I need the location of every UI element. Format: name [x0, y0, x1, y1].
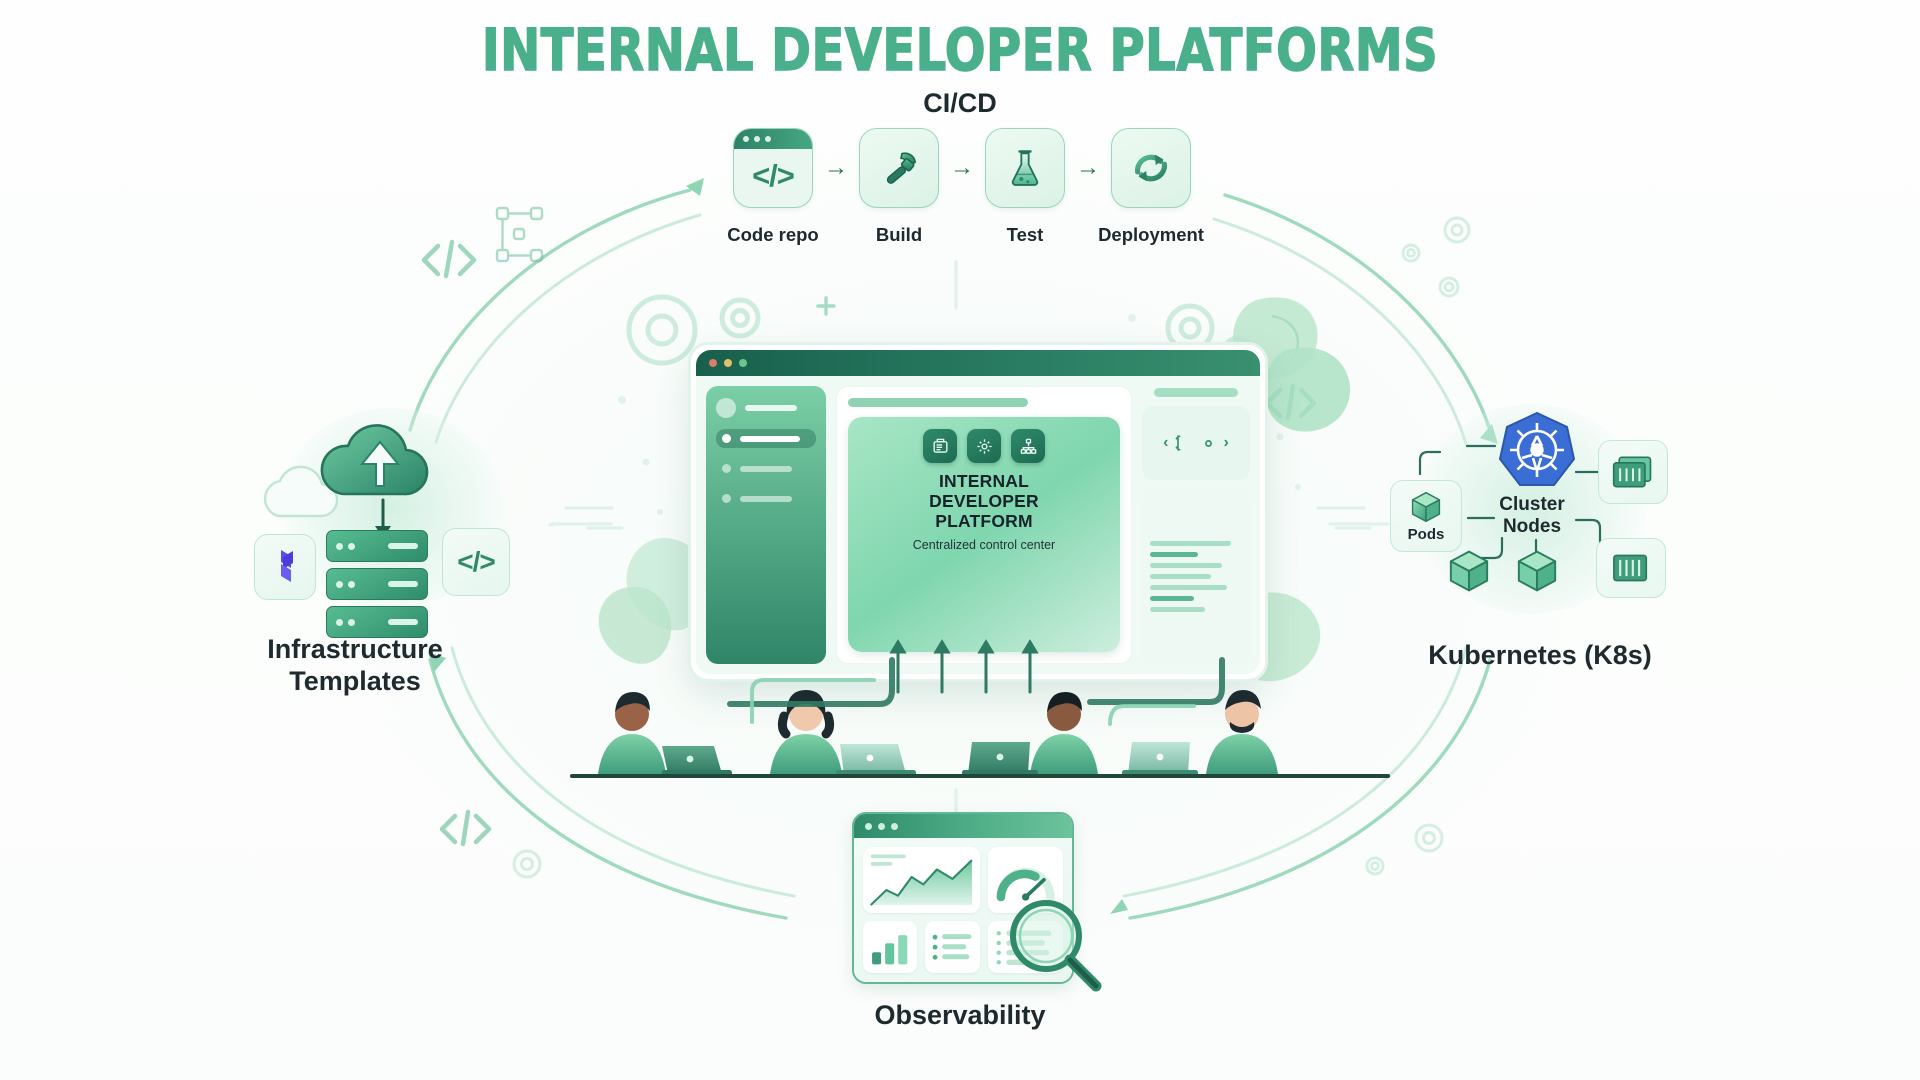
code-brackets-glyph: </> [752, 158, 794, 194]
sidebar-item-icon [722, 494, 731, 503]
page-title: INTERNAL DEVELOPER PLATFORMS [77, 16, 1843, 84]
pipeline-arrow-3: → [1071, 128, 1105, 208]
idp-title-line1: INTERNAL [939, 471, 1029, 491]
pod-cube-icon [1514, 548, 1560, 594]
browser-body: INTERNAL DEVELOPER PLATFORM Centralized … [696, 376, 1260, 674]
idp-title-line3: PLATFORM [935, 511, 1033, 531]
terraform-logo-icon [254, 534, 316, 600]
sidebar-item-4[interactable] [716, 489, 816, 508]
list-widget [925, 921, 979, 973]
browser-titlebar [696, 350, 1260, 376]
observability-dashboard[interactable] [852, 812, 1074, 984]
bottom-widget-row [863, 921, 980, 973]
pipeline-step-label: Deployment [1098, 224, 1204, 246]
pipeline-step-build[interactable]: Build [853, 128, 945, 246]
sidebar-item-icon [722, 434, 731, 443]
sidebar-item-2[interactable] [716, 429, 816, 448]
browser-inner: INTERNAL DEVELOPER PLATFORM Centralized … [696, 350, 1260, 674]
observability-titlebar [854, 814, 1072, 838]
code-line [1150, 541, 1231, 546]
refresh-cycle-icon [1111, 128, 1191, 208]
kubernetes-helm-icon [1496, 410, 1578, 492]
idp-title: INTERNAL DEVELOPER PLATFORM [929, 472, 1039, 532]
sidebar-item-icon [722, 464, 731, 473]
code-line [1150, 563, 1222, 568]
observability-widgets [854, 838, 1072, 982]
section-label-cicd: CI/CD [810, 88, 1110, 120]
code-brackets-icon: </> [442, 528, 510, 596]
app-sidebar [706, 386, 826, 664]
code-line [1150, 607, 1205, 612]
area-chart-widget [863, 847, 980, 913]
code-window-icon: </> [733, 128, 813, 208]
pipeline-arrow-1: → [819, 128, 853, 208]
package-container-icon [923, 429, 957, 463]
flask-icon [985, 128, 1065, 208]
pipeline-step-test[interactable]: Test [979, 128, 1071, 246]
kubernetes-group: Pods Cluster Nodes [1390, 398, 1680, 618]
hammer-icon [859, 128, 939, 208]
cluster-line1: Cluster [1499, 494, 1564, 515]
code-line [1150, 596, 1194, 601]
container-stack-card-bottom[interactable] [1596, 538, 1666, 598]
infrastructure-templates-group: </> [252, 398, 532, 618]
container-stack-icon [1608, 550, 1654, 586]
pipeline-step-label: Code repo [727, 224, 818, 246]
pipeline-step-code-repo[interactable]: </> Code repo [727, 128, 819, 246]
code-gear-icon[interactable]: ‹ › [1142, 406, 1250, 480]
hub-network-icon [967, 429, 1001, 463]
sitemap-icon [1011, 429, 1045, 463]
developers-illustration [570, 662, 1390, 782]
code-line [1150, 574, 1211, 579]
pod-cube-icon [1446, 548, 1492, 594]
right-panel-heading-placeholder [1154, 388, 1238, 397]
avatar [716, 398, 736, 418]
idp-hero-card: INTERNAL DEVELOPER PLATFORM Centralized … [848, 417, 1120, 652]
developer-3 [962, 692, 1098, 776]
idp-browser-window[interactable]: INTERNAL DEVELOPER PLATFORM Centralized … [688, 342, 1268, 682]
right-panel: ‹ › [1142, 386, 1250, 664]
main-content-pane: INTERNAL DEVELOPER PLATFORM Centralized … [836, 386, 1132, 664]
pipeline-step-label: Test [1007, 224, 1044, 246]
idp-title-line2: DEVELOPER [929, 491, 1039, 511]
code-line [1150, 552, 1198, 557]
sidebar-profile-label [745, 405, 797, 411]
sidebar-profile[interactable] [716, 398, 816, 418]
gauge-widget [988, 847, 1063, 913]
pipeline-step-deployment[interactable]: Deployment [1105, 128, 1197, 246]
pod-cube-icon [1409, 490, 1443, 524]
log-list-widget [988, 921, 1063, 973]
section-label-infrastructure: Infrastructure Templates [190, 634, 520, 698]
code-lines-list [1142, 489, 1250, 664]
window-close-dot[interactable] [709, 359, 717, 367]
window-titlebar [734, 129, 812, 149]
cloud-upload-icon [314, 412, 446, 502]
infra-label-line1: Infrastructure [267, 634, 443, 664]
cluster-nodes-label: Cluster Nodes [1476, 494, 1588, 538]
desk-line [570, 774, 1390, 778]
window-minimize-dot[interactable] [724, 359, 732, 367]
section-label-kubernetes: Kubernetes (K8s) [1350, 640, 1730, 672]
pane-heading-placeholder [848, 398, 1028, 407]
infographic-canvas: INTERNAL DEVELOPER PLATFORMS CI/CD </> C… [0, 0, 1920, 1080]
pods-card[interactable]: Pods [1390, 480, 1462, 552]
cicd-pipeline: </> Code repo → Build → [712, 128, 1212, 258]
sidebar-item-3[interactable] [716, 459, 816, 478]
bar-chart-widget [863, 921, 917, 973]
section-label-observability: Observability [800, 1000, 1120, 1032]
container-stack-card-top[interactable] [1598, 440, 1668, 504]
sidebar-item-label [740, 466, 792, 472]
code-brackets-glyph: </> [457, 546, 494, 578]
idp-icon-row [923, 429, 1045, 463]
infra-label-line2: Templates [289, 666, 421, 696]
server-unit [326, 530, 428, 562]
pipeline-step-label: Build [876, 224, 922, 246]
pods-label: Pods [1408, 526, 1445, 543]
server-rack-icon [326, 530, 428, 638]
sidebar-item-label [740, 496, 792, 502]
chevron-left-glyph: ‹ [1163, 434, 1168, 452]
pipeline-arrow-2: → [945, 128, 979, 208]
developer-1 [598, 692, 732, 776]
chevron-right-glyph: › [1224, 434, 1229, 452]
container-stack-icon [1610, 453, 1656, 491]
code-line [1150, 585, 1227, 590]
window-maximize-dot[interactable] [739, 359, 747, 367]
server-unit [326, 568, 428, 600]
idp-subtitle: Centralized control center [913, 538, 1055, 552]
cluster-line2: Nodes [1503, 516, 1561, 537]
sidebar-item-label [740, 436, 800, 442]
